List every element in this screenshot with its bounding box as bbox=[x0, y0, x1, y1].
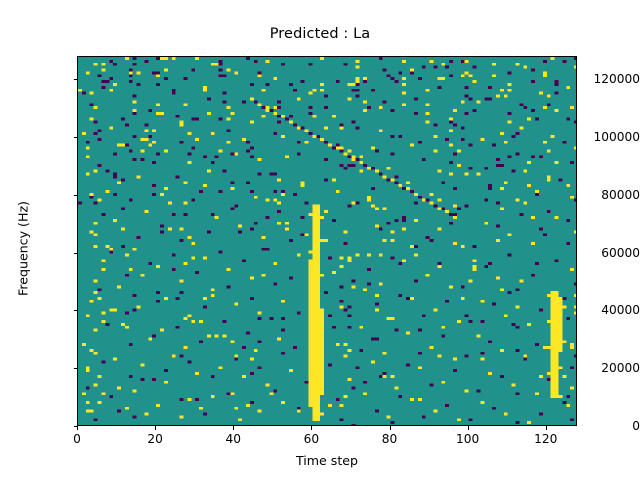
x-tick-mark bbox=[468, 426, 469, 430]
y-tick-label: 60000 bbox=[572, 246, 640, 260]
spectrogram-heatmap bbox=[78, 57, 577, 426]
y-tick-label: 40000 bbox=[572, 303, 640, 317]
x-tick-mark bbox=[546, 426, 547, 430]
y-tick-label: 80000 bbox=[572, 188, 640, 202]
y-tick-mark bbox=[74, 253, 78, 254]
x-tick-label: 100 bbox=[438, 432, 498, 446]
x-tick-mark bbox=[390, 426, 391, 430]
y-tick-mark bbox=[74, 137, 78, 138]
x-tick-label: 80 bbox=[360, 432, 420, 446]
y-tick-mark bbox=[74, 195, 78, 196]
y-tick-mark bbox=[74, 79, 78, 80]
x-tick-mark bbox=[155, 426, 156, 430]
heatmap-axes bbox=[77, 56, 577, 426]
y-axis-label: Frequency (Hz) bbox=[16, 169, 31, 329]
x-tick-label: 60 bbox=[281, 432, 341, 446]
matplotlib-figure: Predicted : La 0200004000060000800001000… bbox=[0, 0, 640, 480]
x-tick-label: 20 bbox=[125, 432, 185, 446]
y-tick-label: 20000 bbox=[572, 361, 640, 375]
x-axis-label: Time step bbox=[77, 453, 577, 468]
y-tick-label: 0 bbox=[572, 419, 640, 433]
x-tick-mark bbox=[233, 426, 234, 430]
x-tick-mark bbox=[77, 426, 78, 430]
x-tick-label: 40 bbox=[203, 432, 263, 446]
y-tick-label: 100000 bbox=[572, 130, 640, 144]
x-tick-label: 0 bbox=[47, 432, 107, 446]
y-tick-mark bbox=[74, 310, 78, 311]
x-tick-mark bbox=[311, 426, 312, 430]
y-tick-label: 120000 bbox=[572, 72, 640, 86]
y-tick-mark bbox=[74, 368, 78, 369]
x-tick-label: 120 bbox=[516, 432, 576, 446]
page-title: Predicted : La bbox=[0, 26, 640, 42]
